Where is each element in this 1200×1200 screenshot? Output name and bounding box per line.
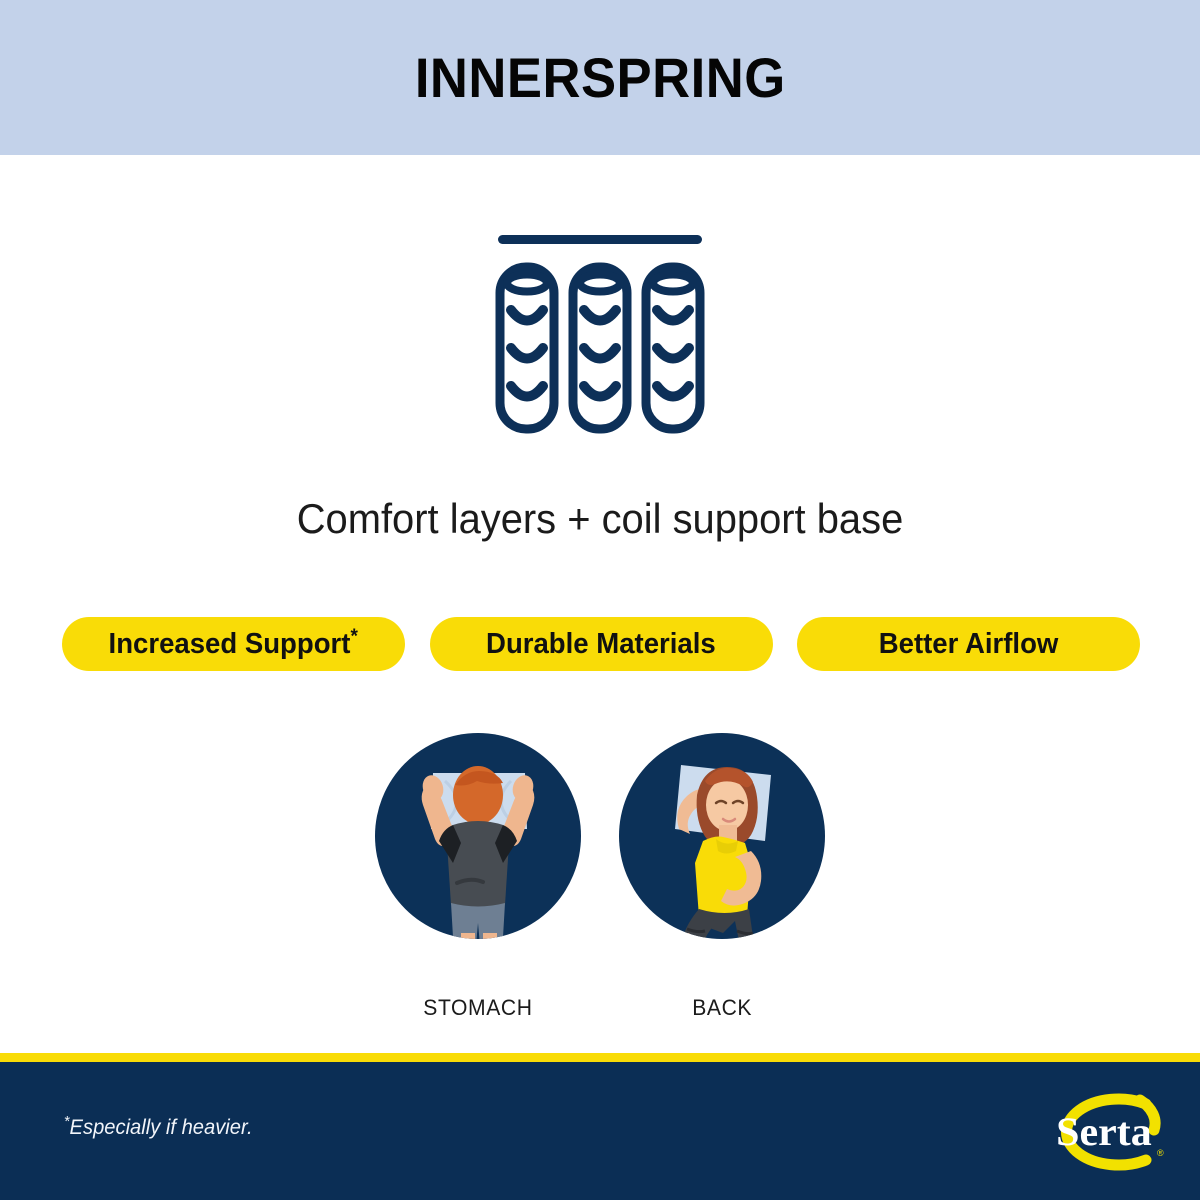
coil-spring-2	[573, 267, 627, 429]
serta-logo[interactable]: Serta ®	[1042, 1084, 1172, 1180]
serta-wordmark: Serta	[1056, 1109, 1152, 1154]
shorts	[683, 909, 753, 939]
header-band: INNERSPRING	[0, 0, 1200, 155]
feature-pill-increased-support[interactable]: Increased Support*	[62, 617, 405, 671]
subtitle-text: Comfort layers + coil support base	[30, 495, 1170, 543]
stomach-sleeper-illustration	[375, 733, 581, 939]
sleep-position-label-back: BACK	[692, 995, 752, 1021]
page-title: INNERSPRING	[415, 45, 786, 110]
feature-label-text: Increased Support	[109, 628, 351, 660]
feature-pill-row: Increased Support* Durable Materials Bet…	[62, 617, 1140, 671]
feature-label-text: Better Airflow	[879, 628, 1059, 660]
stomach-sleeper-circle	[375, 733, 581, 939]
footer-accent-stripe	[0, 1053, 1200, 1062]
feature-label-text: Durable Materials	[486, 628, 716, 660]
back-sleeper-circle	[619, 733, 825, 939]
feature-pill-label: Increased Support*	[109, 628, 358, 661]
coil-spring-3	[646, 267, 700, 429]
serta-logo-mark: Serta ®	[1042, 1084, 1172, 1180]
footnote-text: *Especially if heavier.	[64, 1116, 253, 1140]
back-sleeper-illustration	[619, 733, 825, 939]
feature-pill-better-airflow[interactable]: Better Airflow	[797, 617, 1140, 671]
footnote-body: Especially if heavier.	[70, 1116, 253, 1139]
left-leg	[461, 933, 475, 939]
tshirt	[439, 821, 517, 908]
tank-top	[695, 837, 751, 922]
feature-pill-label: Better Airflow	[879, 628, 1059, 661]
right-leg	[483, 933, 497, 939]
footnote-marker-icon: *	[351, 625, 358, 647]
feature-pill-durable-materials[interactable]: Durable Materials	[430, 617, 773, 671]
sleep-position-label-stomach: STOMACH	[423, 995, 532, 1021]
sleep-positions-row: STOMACH	[0, 733, 1200, 1021]
registered-trademark-icon: ®	[1157, 1148, 1164, 1158]
coil-top-bar	[498, 235, 702, 244]
feature-pill-label: Durable Materials	[486, 628, 716, 661]
infographic-page: INNERSPRING	[0, 0, 1200, 1200]
sleep-position-card-back[interactable]: BACK	[619, 733, 825, 1021]
sleep-position-card-stomach[interactable]: STOMACH	[375, 733, 581, 1021]
coil-icon-container	[0, 215, 1200, 455]
coil-spring-1	[500, 267, 554, 429]
coil-springs-icon	[490, 215, 710, 435]
head	[453, 766, 503, 824]
